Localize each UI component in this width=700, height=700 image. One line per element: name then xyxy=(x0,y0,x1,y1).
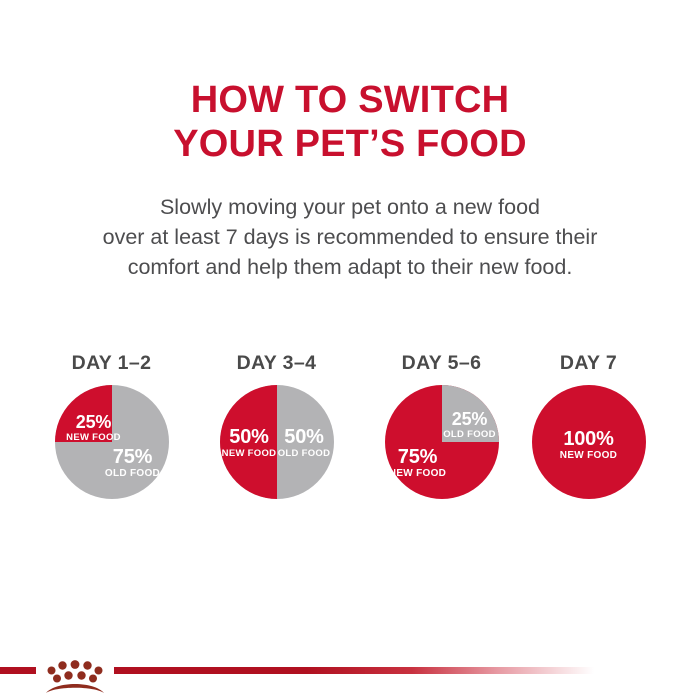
slice-label-old-food: 50% OLD FOOD xyxy=(277,427,332,459)
page-title: HOW TO SWITCH YOUR PET’S FOOD xyxy=(0,78,700,166)
page-header: HOW TO SWITCH YOUR PET’S FOOD xyxy=(0,0,700,166)
pie-disc xyxy=(385,385,499,499)
slice-label-new-food: 100% NEW FOOD xyxy=(532,429,646,461)
brand-rule-left xyxy=(0,667,36,674)
slice-name-new-food: NEW FOOD xyxy=(532,451,646,461)
slice-name-new-food: NEW FOOD xyxy=(61,433,127,443)
pie-chart-day-7: 100% NEW FOOD xyxy=(532,385,646,499)
day-label-1: DAY 1–2 xyxy=(29,352,194,374)
day-label-3: DAY 5–6 xyxy=(359,352,524,374)
pie-block-day-1-2: DAY 1–2 25% NEW FOOD 75% OLD FOOD xyxy=(29,352,194,499)
slice-name-old-food: OLD FOOD xyxy=(99,469,167,479)
royal-canin-crown-icon xyxy=(36,656,114,698)
pie-chart-day-3-4: 50% NEW FOOD 50% OLD FOOD xyxy=(220,385,334,499)
slice-value-old-food: 25% xyxy=(441,410,499,428)
intro-line-2: over at least 7 days is recommended to e… xyxy=(30,222,670,252)
slice-value-new-food: 25% xyxy=(61,413,127,431)
slice-value-old-food: 75% xyxy=(99,447,167,467)
day-label-2: DAY 3–4 xyxy=(194,352,359,374)
slice-value-new-food: 50% xyxy=(222,427,277,447)
slice-name-new-food: NEW FOOD xyxy=(222,449,277,459)
pie-block-day-5-6: DAY 5–6 25% OLD FOOD 75% NEW FOOD xyxy=(359,352,524,499)
footer-brand-bar xyxy=(0,660,700,700)
slice-label-old-food: 75% OLD FOOD xyxy=(99,447,167,479)
slice-value-old-food: 50% xyxy=(277,427,332,447)
pie-chart-day-1-2: 25% NEW FOOD 75% OLD FOOD xyxy=(55,385,169,499)
day-label-4: DAY 7 xyxy=(506,352,671,374)
intro-line-3: comfort and help them adapt to their new… xyxy=(30,252,670,282)
slice-label-old-food: 25% OLD FOOD xyxy=(441,410,499,440)
slice-label-new-food: 50% NEW FOOD xyxy=(222,427,277,459)
slice-label-new-food: 75% NEW FOOD xyxy=(387,447,449,479)
slice-name-old-food: OLD FOOD xyxy=(277,449,332,459)
pie-chart-row: DAY 1–2 25% NEW FOOD 75% OLD FOOD DAY 3–… xyxy=(0,352,700,527)
pie-block-day-7: DAY 7 100% NEW FOOD xyxy=(506,352,671,499)
slice-name-old-food: OLD FOOD xyxy=(441,430,499,440)
slice-value-new-food: 100% xyxy=(532,429,646,449)
intro-paragraph: Slowly moving your pet onto a new food o… xyxy=(30,192,670,282)
slice-name-new-food: NEW FOOD xyxy=(387,469,449,479)
pie-chart-day-5-6: 25% OLD FOOD 75% NEW FOOD xyxy=(385,385,499,499)
brand-rule-right xyxy=(114,667,594,674)
slice-label-new-food: 25% NEW FOOD xyxy=(61,413,127,443)
page-title-line-1: HOW TO SWITCH xyxy=(0,78,700,122)
pie-block-day-3-4: DAY 3–4 50% NEW FOOD 50% OLD FOOD xyxy=(194,352,359,499)
intro-line-1: Slowly moving your pet onto a new food xyxy=(30,192,670,222)
slice-value-new-food: 75% xyxy=(387,447,449,467)
page-title-line-2: YOUR PET’S FOOD xyxy=(0,122,700,166)
